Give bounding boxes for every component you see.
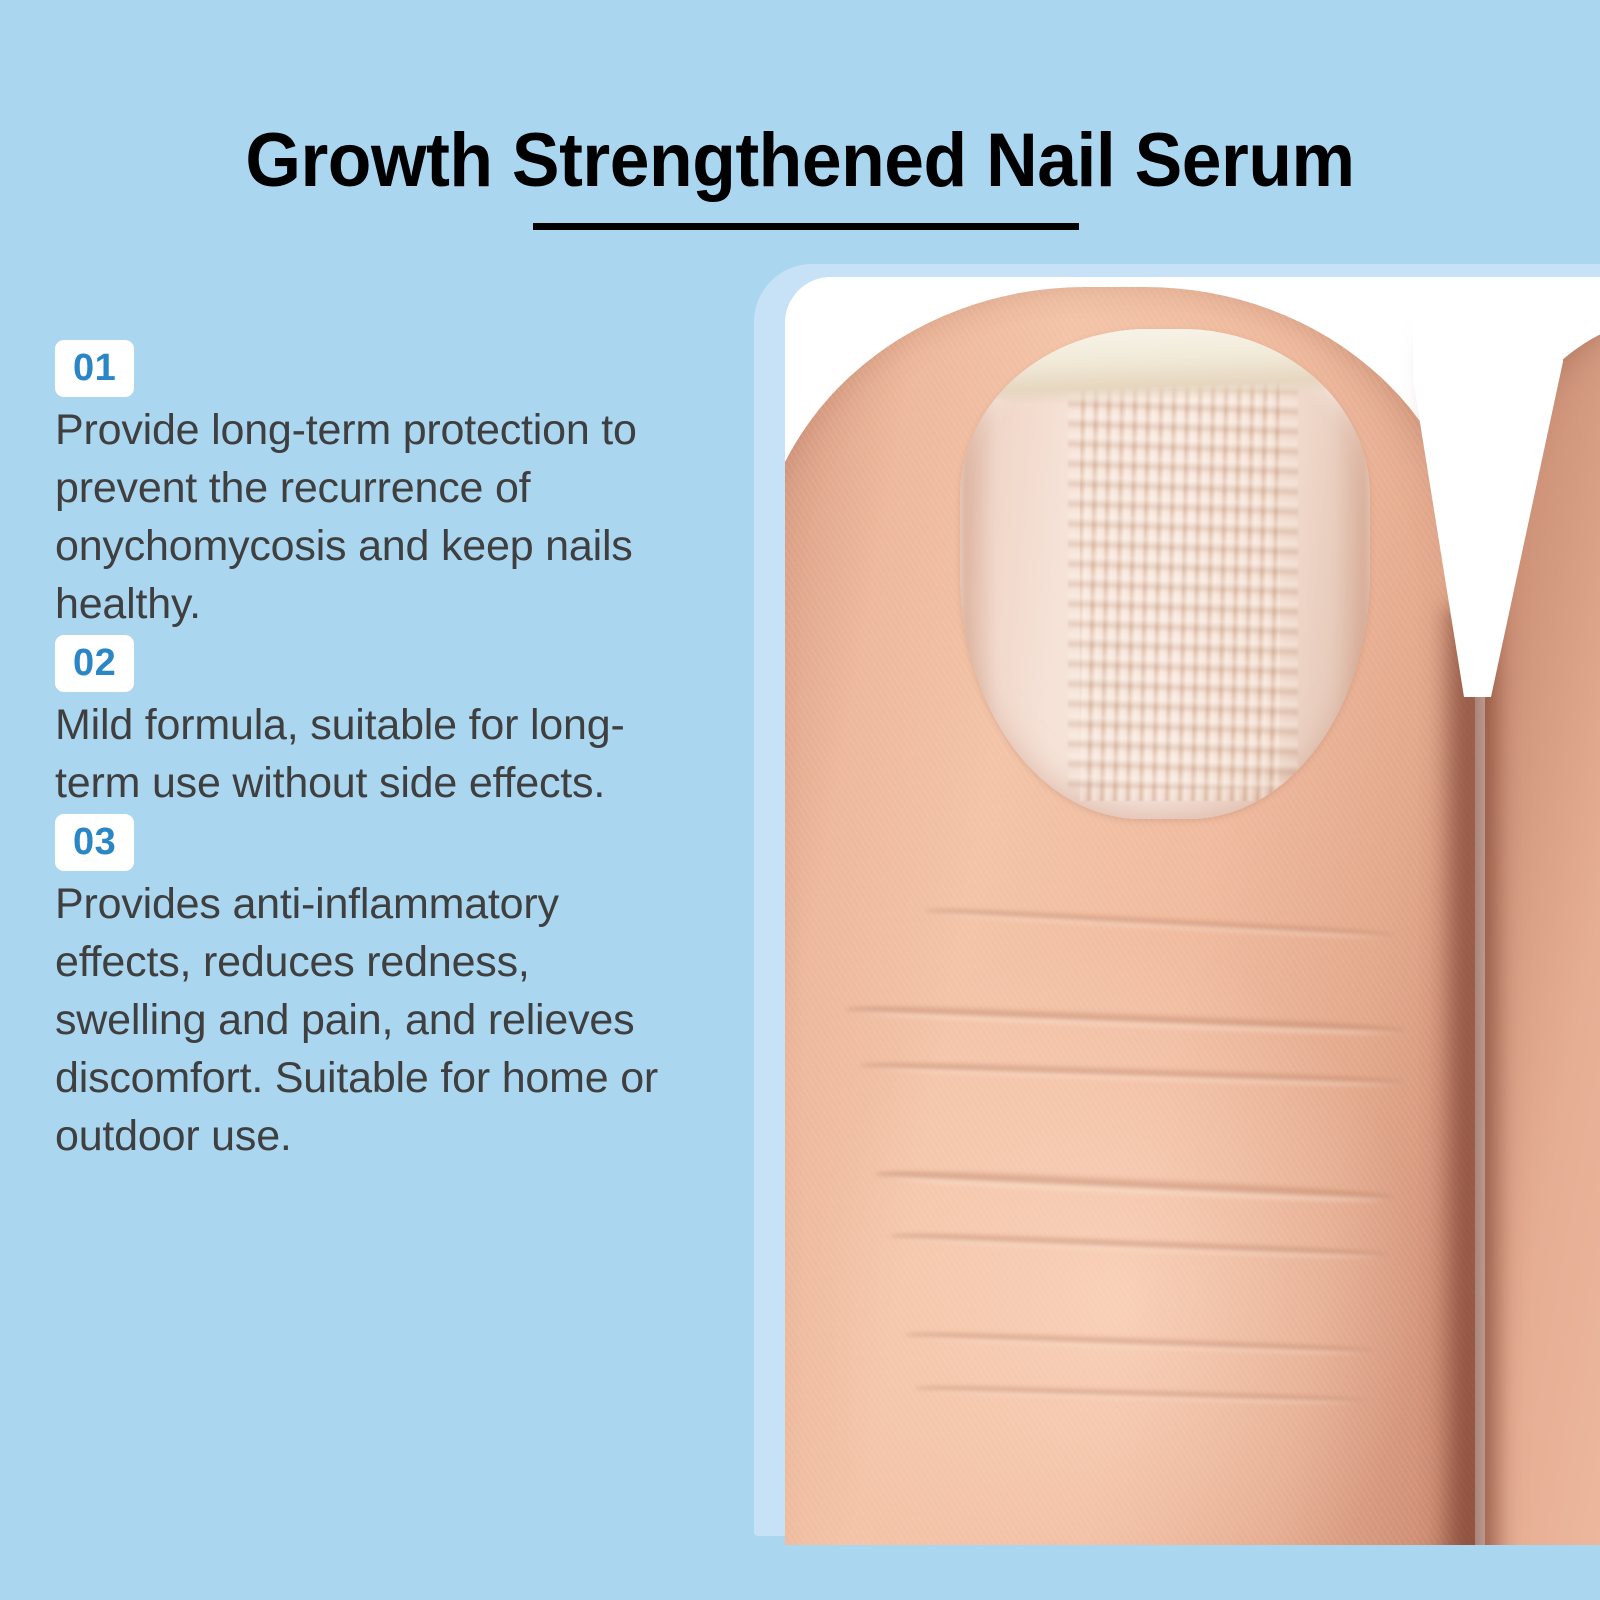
feature-description: Mild formula, suitable for long-term use… — [55, 696, 680, 812]
nail-side-wall-right — [1334, 369, 1368, 799]
feature-number-badge: 01 — [55, 340, 134, 397]
feature-item: 03 Provides anti-inflammatory effects, r… — [55, 814, 680, 1165]
nail-plate — [960, 329, 1370, 819]
finger-gap-shadow — [1435, 607, 1501, 1545]
feature-number-badge: 03 — [55, 814, 134, 871]
nail-ridge-bands — [1068, 389, 1298, 789]
title-divider — [533, 223, 1079, 230]
page-title: Growth Strengthened Nail Serum — [48, 123, 1552, 199]
feature-item: 02 Mild formula, suitable for long-term … — [55, 635, 680, 812]
feature-list: 01 Provide long-term protection to preve… — [55, 340, 680, 1165]
feature-description: Provide long-term protection to prevent … — [55, 401, 680, 633]
nail-cuticle — [960, 329, 1370, 408]
product-image-panel — [785, 277, 1600, 1545]
feature-item: 01 Provide long-term protection to preve… — [55, 340, 680, 633]
nail-side-wall-left — [962, 369, 996, 799]
nail-closeup-photo — [785, 277, 1600, 1545]
feature-description: Provides anti-inflammatory effects, redu… — [55, 875, 680, 1165]
feature-number-badge: 02 — [55, 635, 134, 692]
